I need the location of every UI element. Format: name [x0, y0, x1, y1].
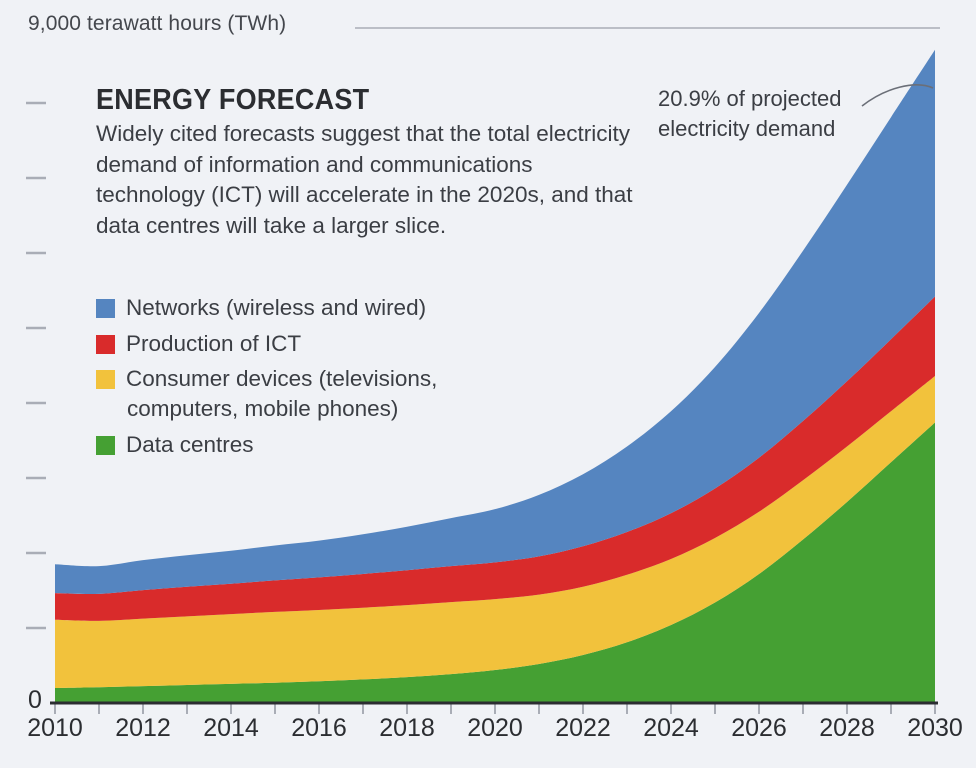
legend-swatch-consumer	[96, 370, 115, 389]
info-block: ENERGY FORECAST Widely cited forecasts s…	[96, 84, 641, 241]
page-title: ENERGY FORECAST	[96, 84, 603, 117]
x-axis-tick-label: 2020	[467, 714, 523, 743]
callout-annotation: 20.9% of projected electricity demand	[658, 84, 841, 144]
x-axis-tick-label: 2016	[291, 714, 347, 743]
x-axis-tick-label: 2014	[203, 714, 259, 743]
legend-label-continuation: computers, mobile phones)	[126, 394, 437, 424]
legend-item[interactable]: Networks (wireless and wired)	[96, 293, 566, 323]
x-axis-tick-label: 2022	[555, 714, 611, 743]
x-axis-tick-label: 2012	[115, 714, 171, 743]
legend-item[interactable]: Production of ICT	[96, 329, 566, 359]
legend-swatch-data_centres	[96, 436, 115, 455]
description-text: Widely cited forecasts suggest that the …	[96, 119, 636, 241]
legend-label: Production of ICT	[126, 329, 301, 359]
y-axis-zero-label: 0	[28, 686, 42, 715]
x-axis-tick-label: 2028	[819, 714, 875, 743]
legend-label: Consumer devices (televisions,computers,…	[126, 364, 437, 424]
x-axis-tick-label: 2026	[731, 714, 787, 743]
x-axis-tick-label: 2030	[907, 714, 963, 743]
chart-figure: 9,000 terawatt hours (TWh) ENERGY FORECA…	[0, 0, 976, 768]
legend-item[interactable]: Consumer devices (televisions,computers,…	[96, 364, 566, 424]
legend-swatch-production	[96, 335, 115, 354]
x-axis-tick-label: 2018	[379, 714, 435, 743]
legend-label: Networks (wireless and wired)	[126, 293, 426, 323]
chart-legend: Networks (wireless and wired)Production …	[96, 293, 566, 465]
legend-label: Data centres	[126, 430, 254, 460]
y-axis-unit-label: 9,000 terawatt hours (TWh)	[28, 12, 286, 36]
x-axis-tick-label: 2010	[27, 714, 83, 743]
legend-item[interactable]: Data centres	[96, 430, 566, 460]
x-axis-tick-label: 2024	[643, 714, 699, 743]
legend-swatch-networks	[96, 299, 115, 318]
